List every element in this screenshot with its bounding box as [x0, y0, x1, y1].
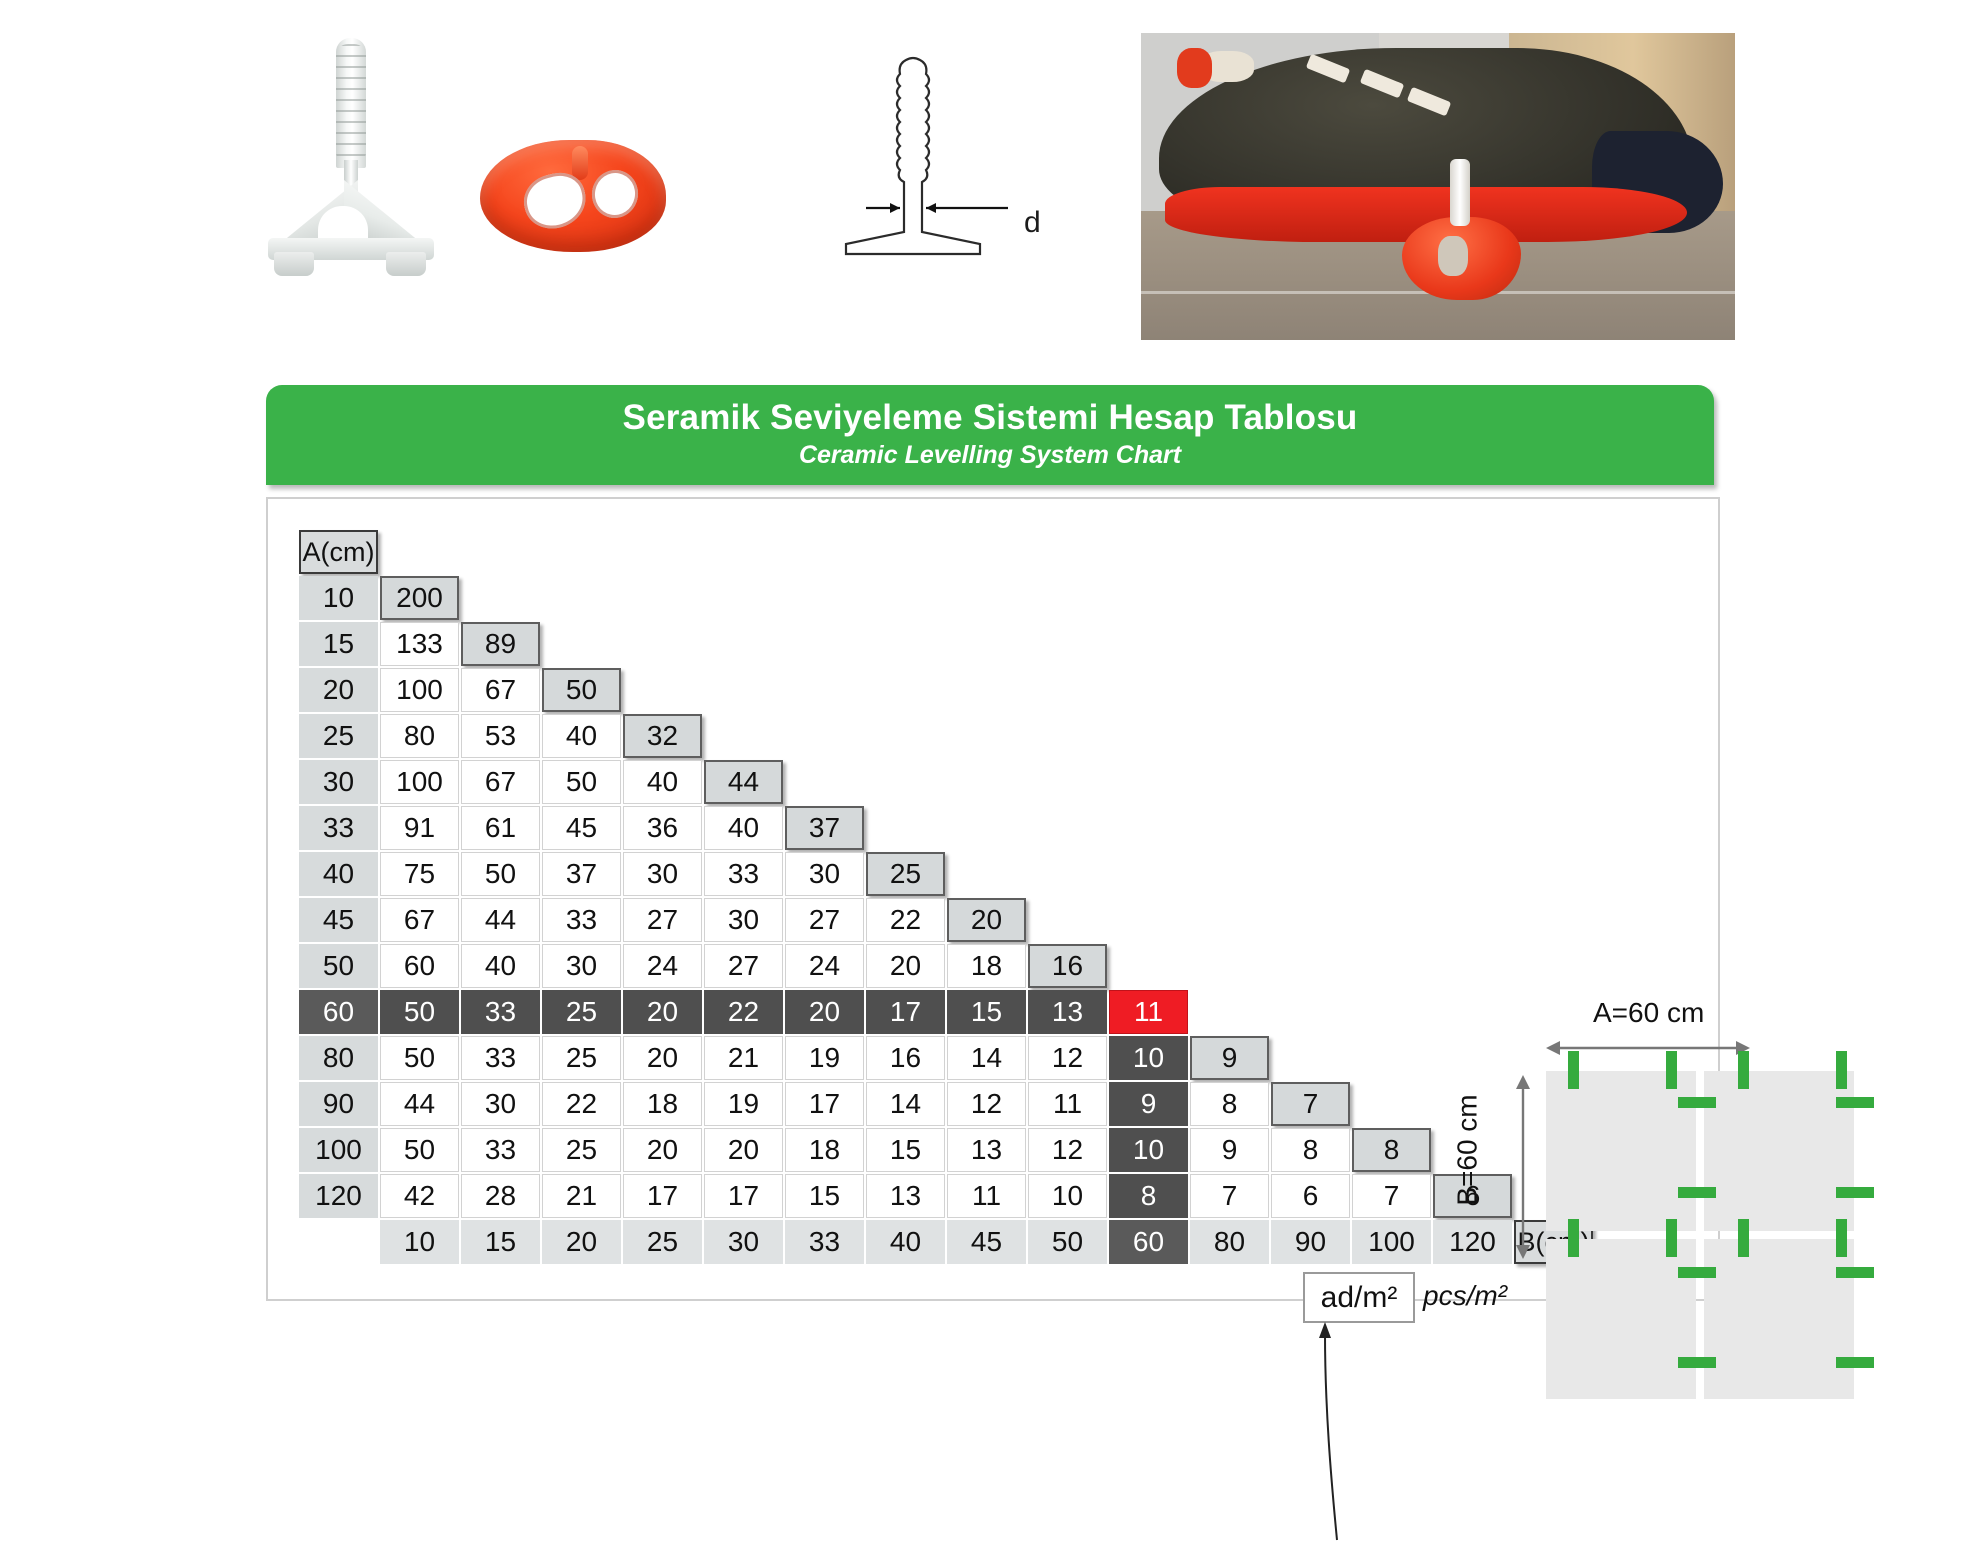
- empty-cell: [1109, 668, 1188, 712]
- empty-cell: [1190, 668, 1269, 712]
- table-row: 12042282117171513111087676: [299, 1174, 1595, 1220]
- empty-cell: [1433, 990, 1512, 1034]
- cell-33-25[interactable]: 36: [623, 806, 702, 850]
- cell-120-100[interactable]: 7: [1352, 1174, 1431, 1218]
- empty-cell: [1028, 898, 1107, 942]
- empty-cell: [1271, 668, 1350, 712]
- cell-90-40[interactable]: 14: [866, 1082, 945, 1126]
- tile-bottom-left: [1546, 1239, 1696, 1399]
- cell-60-10[interactable]: 50: [380, 990, 459, 1034]
- column-header-80[interactable]: 80: [1190, 1220, 1269, 1264]
- empty-cell: [1352, 576, 1431, 620]
- row-header-90[interactable]: 90: [299, 1082, 378, 1126]
- empty-cell: [947, 714, 1026, 758]
- cell-60-45[interactable]: 15: [947, 990, 1026, 1034]
- cell-60-50[interactable]: 13: [1028, 990, 1107, 1034]
- table-row: 90443022181917141211987: [299, 1082, 1595, 1128]
- cell-45-40[interactable]: 22: [866, 898, 945, 942]
- cell-80-45[interactable]: 14: [947, 1036, 1026, 1080]
- clip-mark-v8: [1836, 1219, 1847, 1257]
- cell-120-25[interactable]: 17: [623, 1174, 702, 1218]
- empty-cell: [542, 576, 621, 620]
- row-header-45[interactable]: 45: [299, 898, 378, 942]
- photo-white-clip: [1450, 159, 1470, 227]
- empty-cell: [704, 622, 783, 666]
- clip-mark-h6: [1836, 1267, 1874, 1278]
- cell-100-50[interactable]: 12: [1028, 1128, 1107, 1172]
- cell-100-100[interactable]: 8: [1352, 1128, 1431, 1172]
- cell-33-20[interactable]: 45: [542, 806, 621, 850]
- cell-120-10[interactable]: 42: [380, 1174, 459, 1218]
- product-image-strip: d: [0, 0, 1962, 360]
- cell-25-25[interactable]: 32: [623, 714, 702, 758]
- row-header-100[interactable]: 100: [299, 1128, 378, 1172]
- row-header-50[interactable]: 50: [299, 944, 378, 988]
- empty-cell: [1028, 622, 1107, 666]
- empty-cell: [1190, 852, 1269, 896]
- empty-cell: [785, 760, 864, 804]
- empty-cell: [1190, 990, 1269, 1034]
- cell-30-15[interactable]: 67: [461, 760, 540, 804]
- chart-title-english: Ceramic Levelling System Chart: [266, 437, 1714, 471]
- row-header-60[interactable]: 60: [299, 990, 378, 1034]
- cell-50-15[interactable]: 40: [461, 944, 540, 988]
- empty-cell: [947, 806, 1026, 850]
- column-header-60[interactable]: 60: [1109, 1220, 1188, 1264]
- empty-cell: [1271, 576, 1350, 620]
- footer-spacer: [299, 1220, 378, 1264]
- cell-50-45[interactable]: 18: [947, 944, 1026, 988]
- empty-cell: [1352, 622, 1431, 666]
- empty-cell: [947, 622, 1026, 666]
- cell-90-30[interactable]: 19: [704, 1082, 783, 1126]
- tile-bottom-right: [1704, 1239, 1854, 1399]
- height-dimension-arrow: [1510, 1073, 1536, 1283]
- row-header-33[interactable]: 33: [299, 806, 378, 850]
- empty-cell: [1271, 990, 1350, 1034]
- cell-45-25[interactable]: 27: [623, 898, 702, 942]
- empty-cell: [1190, 576, 1269, 620]
- empty-cell: [1352, 668, 1431, 712]
- cell-80-80[interactable]: 9: [1190, 1036, 1269, 1080]
- column-header-25[interactable]: 25: [623, 1220, 702, 1264]
- empty-cell: [866, 668, 945, 712]
- table-row: 3010067504044: [299, 760, 1595, 806]
- empty-cell: [1190, 714, 1269, 758]
- empty-cell: [1352, 990, 1431, 1034]
- empty-cell: [1352, 852, 1431, 896]
- cell-80-10[interactable]: 50: [380, 1036, 459, 1080]
- empty-cell: [785, 576, 864, 620]
- tile-layout-diagram: A=60 cm B=60 cm: [1488, 1029, 1948, 1479]
- cell-120-20[interactable]: 21: [542, 1174, 621, 1218]
- cell-100-33[interactable]: 18: [785, 1128, 864, 1172]
- cell-100-30[interactable]: 20: [704, 1128, 783, 1172]
- empty-cell: [1433, 576, 1512, 620]
- empty-cell: [1109, 944, 1188, 988]
- empty-cell: [866, 806, 945, 850]
- cell-45-33[interactable]: 27: [785, 898, 864, 942]
- empty-cell: [1190, 944, 1269, 988]
- empty-cell: [1109, 852, 1188, 896]
- row-header-80[interactable]: 80: [299, 1036, 378, 1080]
- empty-cell: [1028, 852, 1107, 896]
- cell-100-10[interactable]: 50: [380, 1128, 459, 1172]
- clip-mark-v5: [1568, 1219, 1579, 1257]
- units-callout: ad/m² pcs/m²: [1303, 1272, 1415, 1323]
- matrix-header-row: A(cm): [299, 530, 1595, 576]
- cell-100-45[interactable]: 13: [947, 1128, 1026, 1172]
- cell-40-33[interactable]: 30: [785, 852, 864, 896]
- row-axis-label: A(cm): [299, 530, 378, 574]
- gap-dimension-label: d: [1024, 206, 1041, 240]
- cell-10-10[interactable]: 200: [380, 576, 459, 620]
- empty-cell: [866, 760, 945, 804]
- empty-cell: [1433, 898, 1512, 942]
- cell-90-90[interactable]: 7: [1271, 1082, 1350, 1126]
- diagram-width-label: A=60 cm: [1593, 997, 1704, 1029]
- empty-cell: [1028, 806, 1107, 850]
- photo-shoe-red-tab: [1177, 48, 1213, 88]
- cell-25-15[interactable]: 53: [461, 714, 540, 758]
- clip-mark-v6: [1666, 1219, 1677, 1257]
- cell-15-10[interactable]: 133: [380, 622, 459, 666]
- cell-90-25[interactable]: 18: [623, 1082, 702, 1126]
- table-row: 1513389: [299, 622, 1595, 668]
- empty-cell: [1190, 898, 1269, 942]
- empty-cell: [1190, 622, 1269, 666]
- empty-cell: [1271, 760, 1350, 804]
- cell-90-15[interactable]: 30: [461, 1082, 540, 1126]
- empty-cell: [1433, 714, 1512, 758]
- cell-50-33[interactable]: 24: [785, 944, 864, 988]
- empty-cell: [1028, 760, 1107, 804]
- empty-cell: [1271, 944, 1350, 988]
- clip-foot-left: [274, 252, 314, 276]
- clip-mark-h3: [1678, 1187, 1716, 1198]
- cell-45-20[interactable]: 33: [542, 898, 621, 942]
- cell-120-80[interactable]: 7: [1190, 1174, 1269, 1218]
- empty-cell: [866, 622, 945, 666]
- empty-cell: [1028, 668, 1107, 712]
- cell-80-15[interactable]: 33: [461, 1036, 540, 1080]
- cell-80-20[interactable]: 25: [542, 1036, 621, 1080]
- cell-60-40[interactable]: 17: [866, 990, 945, 1034]
- empty-cell: [1352, 760, 1431, 804]
- table-row: 4075503730333025: [299, 852, 1595, 898]
- empty-cell: [704, 576, 783, 620]
- tile-top-right: [1704, 1071, 1854, 1231]
- clip-mark-h2: [1836, 1097, 1874, 1108]
- cell-100-60[interactable]: 10: [1109, 1128, 1188, 1172]
- cell-120-90[interactable]: 6: [1271, 1174, 1350, 1218]
- cell-30-20[interactable]: 50: [542, 760, 621, 804]
- cell-25-10[interactable]: 80: [380, 714, 459, 758]
- table-row: 456744332730272220: [299, 898, 1595, 944]
- empty-cell: [1352, 898, 1431, 942]
- table-row: 33916145364037: [299, 806, 1595, 852]
- cell-60-15[interactable]: 33: [461, 990, 540, 1034]
- empty-cell: [1109, 714, 1188, 758]
- cell-45-15[interactable]: 44: [461, 898, 540, 942]
- empty-cell: [1109, 576, 1188, 620]
- empty-cell: [1271, 806, 1350, 850]
- column-header-15[interactable]: 15: [461, 1220, 540, 1264]
- table-row: 10050332520201815131210988: [299, 1128, 1595, 1174]
- cell-100-90[interactable]: 8: [1271, 1128, 1350, 1172]
- cell-80-50[interactable]: 12: [1028, 1036, 1107, 1080]
- column-header-40[interactable]: 40: [866, 1220, 945, 1264]
- cell-50-30[interactable]: 27: [704, 944, 783, 988]
- cell-120-60[interactable]: 8: [1109, 1174, 1188, 1218]
- empty-cell: [947, 668, 1026, 712]
- levelling-matrix-table: A(cm)10200151338920100675025805340323010…: [299, 530, 1595, 1266]
- empty-cell: [947, 760, 1026, 804]
- empty-cell: [542, 622, 621, 666]
- table-row: 50604030242724201816: [299, 944, 1595, 990]
- cell-45-10[interactable]: 67: [380, 898, 459, 942]
- empty-cell: [623, 668, 702, 712]
- cell-90-10[interactable]: 44: [380, 1082, 459, 1126]
- cell-50-10[interactable]: 60: [380, 944, 459, 988]
- cell-40-10[interactable]: 75: [380, 852, 459, 896]
- cell-20-20[interactable]: 50: [542, 668, 621, 712]
- cell-120-50[interactable]: 10: [1028, 1174, 1107, 1218]
- cell-90-33[interactable]: 17: [785, 1082, 864, 1126]
- empty-cell: [1271, 898, 1350, 942]
- empty-cell: [1271, 622, 1350, 666]
- table-row: 80503325202119161412109: [299, 1036, 1595, 1082]
- cell-30-10[interactable]: 100: [380, 760, 459, 804]
- cell-30-30[interactable]: 44: [704, 760, 783, 804]
- cell-60-20[interactable]: 25: [542, 990, 621, 1034]
- cell-100-25[interactable]: 20: [623, 1128, 702, 1172]
- empty-cell: [785, 622, 864, 666]
- cell-50-50[interactable]: 16: [1028, 944, 1107, 988]
- diagram-height-label: B=60 cm: [1452, 1094, 1484, 1205]
- cell-15-15[interactable]: 89: [461, 622, 540, 666]
- clip-mark-h4: [1836, 1187, 1874, 1198]
- clip-cross-section-drawing: d: [838, 48, 1098, 268]
- cell-100-40[interactable]: 15: [866, 1128, 945, 1172]
- cell-90-60[interactable]: 9: [1109, 1082, 1188, 1126]
- levelling-cap-photo: [480, 140, 680, 270]
- cell-120-15[interactable]: 28: [461, 1174, 540, 1218]
- empty-cell: [1028, 576, 1107, 620]
- clip-ridges: [336, 44, 366, 164]
- column-header-45[interactable]: 45: [947, 1220, 1026, 1264]
- cell-90-45[interactable]: 12: [947, 1082, 1026, 1126]
- empty-cell: [704, 714, 783, 758]
- cell-33-33[interactable]: 37: [785, 806, 864, 850]
- empty-cell: [1109, 898, 1188, 942]
- table-row: 2580534032: [299, 714, 1595, 760]
- column-header-33[interactable]: 33: [785, 1220, 864, 1264]
- shoe-pressing-cap-photo: [1141, 33, 1735, 340]
- photo-cap-hole: [1438, 236, 1468, 276]
- table-row: 6050332520222017151311: [299, 990, 1595, 1036]
- empty-cell: [947, 576, 1026, 620]
- clip-drawing-svg: [838, 48, 1098, 268]
- cell-40-25[interactable]: 30: [623, 852, 702, 896]
- empty-cell: [947, 852, 1026, 896]
- cell-120-33[interactable]: 15: [785, 1174, 864, 1218]
- empty-cell: [1433, 806, 1512, 850]
- empty-cell: [1352, 944, 1431, 988]
- empty-cell: [1352, 1082, 1431, 1126]
- callout-leader-arrow: [1285, 1318, 1405, 1548]
- cell-50-25[interactable]: 24: [623, 944, 702, 988]
- row-header-20[interactable]: 20: [299, 668, 378, 712]
- column-header-10[interactable]: 10: [380, 1220, 459, 1264]
- cell-100-80[interactable]: 9: [1190, 1128, 1269, 1172]
- empty-cell: [1433, 852, 1512, 896]
- empty-cell: [1190, 806, 1269, 850]
- empty-cell: [1352, 714, 1431, 758]
- empty-cell: [1352, 806, 1431, 850]
- cap-ridge: [572, 146, 588, 180]
- cell-100-20[interactable]: 25: [542, 1128, 621, 1172]
- levelling-clip-photo: [258, 30, 458, 270]
- empty-cell: [1271, 1036, 1350, 1080]
- clip-mark-v7: [1738, 1219, 1749, 1257]
- chart-title-turkish: Seramik Seviyeleme Sistemi Hesap Tablosu: [266, 385, 1714, 437]
- cell-20-10[interactable]: 100: [380, 668, 459, 712]
- empty-cell: [1433, 944, 1512, 988]
- clip-mark-h8: [1836, 1357, 1874, 1368]
- clip-mark-v2: [1666, 1051, 1677, 1089]
- clip-mark-v4: [1836, 1051, 1847, 1089]
- row-header-25[interactable]: 25: [299, 714, 378, 758]
- empty-cell: [1433, 622, 1512, 666]
- cell-100-15[interactable]: 33: [461, 1128, 540, 1172]
- clip-mark-v1: [1568, 1051, 1579, 1089]
- cell-80-30[interactable]: 21: [704, 1036, 783, 1080]
- cell-120-30[interactable]: 17: [704, 1174, 783, 1218]
- clip-mark-h5: [1678, 1267, 1716, 1278]
- empty-cell: [866, 576, 945, 620]
- cell-33-10[interactable]: 91: [380, 806, 459, 850]
- cell-90-50[interactable]: 11: [1028, 1082, 1107, 1126]
- cell-80-33[interactable]: 19: [785, 1036, 864, 1080]
- empty-cell: [461, 576, 540, 620]
- cell-60-60[interactable]: 11: [1109, 990, 1188, 1034]
- cell-25-20[interactable]: 40: [542, 714, 621, 758]
- empty-cell: [1271, 714, 1350, 758]
- cell-90-80[interactable]: 8: [1190, 1082, 1269, 1126]
- cell-60-33[interactable]: 20: [785, 990, 864, 1034]
- empty-cell: [1433, 760, 1512, 804]
- clip-mark-v3: [1738, 1051, 1749, 1089]
- cell-33-30[interactable]: 40: [704, 806, 783, 850]
- empty-cell: [623, 622, 702, 666]
- cell-120-45[interactable]: 11: [947, 1174, 1026, 1218]
- cell-90-20[interactable]: 22: [542, 1082, 621, 1126]
- table-row: 10200: [299, 576, 1595, 622]
- empty-cell: [1109, 622, 1188, 666]
- matrix-footer-row: 101520253033404550608090100120B(cm): [299, 1220, 1595, 1266]
- empty-cell: [1190, 760, 1269, 804]
- column-header-50[interactable]: 50: [1028, 1220, 1107, 1264]
- clip-mark-h7: [1678, 1357, 1716, 1368]
- cell-40-20[interactable]: 37: [542, 852, 621, 896]
- empty-cell: [704, 668, 783, 712]
- cell-20-15[interactable]: 67: [461, 668, 540, 712]
- column-header-20[interactable]: 20: [542, 1220, 621, 1264]
- chart-title-banner: Seramik Seviyeleme Sistemi Hesap Tablosu…: [266, 385, 1714, 485]
- row-header-40[interactable]: 40: [299, 852, 378, 896]
- empty-cell: [785, 714, 864, 758]
- cell-40-15[interactable]: 50: [461, 852, 540, 896]
- empty-cell: [1028, 714, 1107, 758]
- column-header-90[interactable]: 90: [1271, 1220, 1350, 1264]
- chart-panel: A(cm)10200151338920100675025805340323010…: [266, 497, 1720, 1301]
- cell-50-40[interactable]: 20: [866, 944, 945, 988]
- cell-33-15[interactable]: 61: [461, 806, 540, 850]
- empty-cell: [785, 668, 864, 712]
- cell-80-40[interactable]: 16: [866, 1036, 945, 1080]
- clip-foot-right: [386, 252, 426, 276]
- empty-cell: [1109, 760, 1188, 804]
- units-callout-box: ad/m²: [1303, 1272, 1415, 1323]
- cell-40-30[interactable]: 33: [704, 852, 783, 896]
- row-header-30[interactable]: 30: [299, 760, 378, 804]
- empty-cell: [1433, 668, 1512, 712]
- cell-80-25[interactable]: 20: [623, 1036, 702, 1080]
- empty-cell: [1271, 852, 1350, 896]
- cell-50-20[interactable]: 30: [542, 944, 621, 988]
- column-header-100[interactable]: 100: [1352, 1220, 1431, 1264]
- empty-cell: [866, 714, 945, 758]
- row-header-10[interactable]: 10: [299, 576, 378, 620]
- column-header-30[interactable]: 30: [704, 1220, 783, 1264]
- cell-30-25[interactable]: 40: [623, 760, 702, 804]
- cell-45-30[interactable]: 30: [704, 898, 783, 942]
- cell-120-40[interactable]: 13: [866, 1174, 945, 1218]
- cell-60-25[interactable]: 20: [623, 990, 702, 1034]
- empty-cell: [1352, 1036, 1431, 1080]
- empty-cell: [1109, 806, 1188, 850]
- cell-60-30[interactable]: 22: [704, 990, 783, 1034]
- table-row: 201006750: [299, 668, 1595, 714]
- empty-cell: [623, 576, 702, 620]
- row-header-15[interactable]: 15: [299, 622, 378, 666]
- row-header-120[interactable]: 120: [299, 1174, 378, 1218]
- cell-40-40[interactable]: 25: [866, 852, 945, 896]
- cell-80-60[interactable]: 10: [1109, 1036, 1188, 1080]
- tile-top-left: [1546, 1071, 1696, 1231]
- clip-mark-h1: [1678, 1097, 1716, 1108]
- cell-45-45[interactable]: 20: [947, 898, 1026, 942]
